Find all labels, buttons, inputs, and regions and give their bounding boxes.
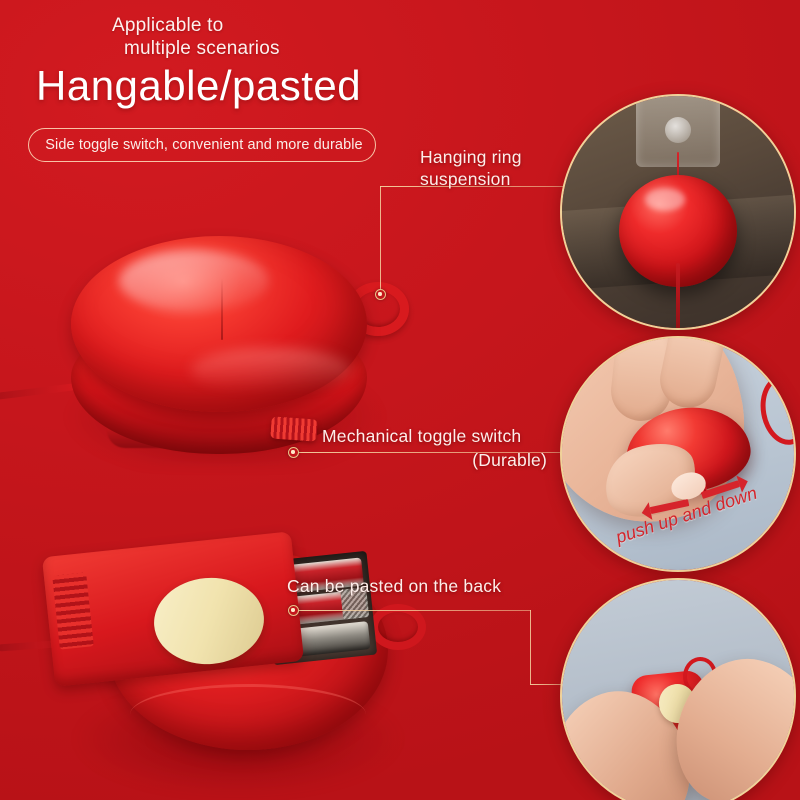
product-infographic: Applicable to multiple scenarios Hangabl… <box>0 0 800 800</box>
callout-switch-line-1: Mechanical toggle switch <box>322 426 521 446</box>
subtitle-text: Side toggle switch, convenient and more … <box>28 135 380 155</box>
marker-dot-adhesive-back <box>288 605 299 616</box>
connector-line-paste-horizontal <box>297 610 531 611</box>
connector-line-paste-vertical <box>530 610 531 684</box>
inset-photo-peel-adhesive <box>560 578 796 800</box>
callout-hanging-line-2: suspension <box>420 169 511 189</box>
marker-dot-hanging-ring <box>375 289 386 300</box>
cord-lower <box>676 263 680 330</box>
shell-seam <box>221 278 223 340</box>
callout-toggle-switch: Mechanical toggle switch (Durable) <box>322 424 547 472</box>
gloss-highlight-secondary <box>191 348 351 392</box>
callout-pasted-back: Can be pasted on the back <box>287 575 501 597</box>
hero-top-shell <box>71 236 367 412</box>
inset-hanging-scene <box>562 96 794 328</box>
marker-dot-toggle-switch <box>288 447 299 458</box>
inset-peel-scene <box>562 580 794 800</box>
callout-hanging-line-1: Hanging ring <box>420 147 522 167</box>
page-title: Hangable/pasted <box>36 62 361 110</box>
kicker-text: Applicable to multiple scenarios <box>112 14 412 60</box>
kicker-line-2: multiple scenarios <box>124 37 412 60</box>
toggle-switch-feature <box>270 416 317 441</box>
inset-push-scene: push up and down <box>562 338 794 570</box>
kicker-line-1: Applicable to <box>112 15 223 36</box>
inset-photo-hanging <box>560 94 796 330</box>
callout-switch-line-2: (Durable) <box>322 448 547 472</box>
back-lip-line <box>130 684 366 745</box>
connector-line-hanging-vertical <box>380 186 381 294</box>
inset-photo-push-switch: push up and down <box>560 336 796 572</box>
gloss-highlight <box>119 250 269 312</box>
product-photo-back <box>18 534 438 784</box>
hero-pull-cord <box>0 383 75 399</box>
device-hanging-ring <box>755 371 796 449</box>
